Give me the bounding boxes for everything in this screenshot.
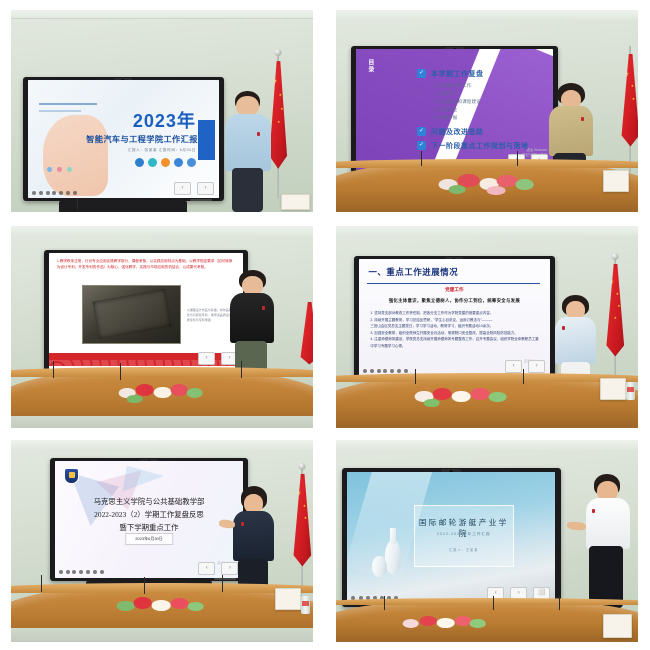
slide-nav[interactable]: ‹ › — [505, 360, 545, 373]
pen-icon[interactable] — [59, 570, 63, 574]
flower — [452, 391, 470, 402]
flower — [487, 186, 505, 195]
name-card — [275, 588, 301, 610]
agenda-heading: ✓ 本学期工作复盘 — [417, 69, 529, 79]
agenda-list: ✓ 本学期工作复盘 1. 就业和宣传工作 2. 团团学工 3. 专业建设和课程建… — [417, 69, 529, 155]
flag-cloth: ★ ★ ★ — [289, 474, 313, 567]
meeting-room-scene-6: 国际邮轮游艇产业学院 2022-2023学年工作汇报 汇报人：王某某 — [336, 440, 638, 642]
agenda-heading-text: 问题及改进思路 — [431, 127, 484, 137]
flag-star-icon: ★ — [617, 305, 620, 309]
decorative-hand-photo — [43, 115, 108, 196]
dot — [67, 167, 72, 172]
water-bottle — [626, 382, 635, 400]
flower — [420, 616, 437, 627]
agenda-item: 3. 专业建设和课程建设 — [433, 99, 529, 105]
panel-4-photo: ★ ★ ★ ★ 一、重点工作进展情况 党建工作 强化主体意识，聚焦立德树人，协作… — [336, 226, 638, 428]
table-edge — [11, 583, 313, 592]
menu-icon[interactable] — [93, 570, 97, 574]
slide-6-background: 国际邮轮游艇产业学院 2022-2023学年工作汇报 汇报人：王某某 — [347, 472, 555, 604]
flower — [489, 392, 506, 402]
torso — [230, 293, 274, 343]
more-icon[interactable] — [59, 191, 63, 195]
wall-display-3: 1.教学秩序正常，针对专业应用实践教学部分，课程考核，以实践应用特点为基础，以教… — [44, 250, 248, 374]
agenda-heading: ✓ 问题及改进思路 — [417, 127, 529, 137]
china-flag: ★ ★ ★ — [289, 466, 313, 591]
flag-star-icon: ★ — [632, 98, 635, 102]
settings-icon[interactable] — [73, 191, 77, 195]
wall-display-2: 目录 ✓ 本学期工作复盘 1. 就业和宣传工作 2. 团团学工 3. 专业建设和… — [351, 46, 558, 172]
flag-finial-icon — [274, 49, 281, 56]
prev-slide-button[interactable]: ‹ — [198, 562, 215, 575]
flag-star-icon: ★ — [616, 293, 619, 297]
flower-arrangement — [111, 380, 214, 408]
microphone-stem — [523, 369, 524, 383]
ceiling — [336, 440, 638, 450]
floor — [11, 416, 313, 428]
table-edge — [11, 367, 313, 377]
flower — [437, 618, 454, 628]
slide-canvas-6: 国际邮轮游艇产业学院 2022-2023学年工作汇报 汇报人：王某某 — [347, 472, 555, 604]
name-card-text — [614, 174, 618, 178]
slide-title: 智能汽车与工程学院工作汇报 — [86, 133, 198, 145]
display-screen[interactable]: 2023年 智能汽车与工程学院工作汇报 汇报人：张某某 汇报时间：6月30日 — [28, 80, 219, 198]
slide-icon-row — [135, 158, 196, 167]
name-card — [603, 170, 629, 192]
microphone-stem — [493, 596, 494, 610]
agenda-heading-text: 下一阶段重点工作规划与落地 — [431, 141, 529, 151]
marker-icon[interactable] — [370, 369, 374, 373]
title-rule — [367, 283, 541, 284]
presenter-1 — [222, 91, 273, 212]
slide-canvas-3: 1.教学秩序正常，针对专业应用实践教学部分，课程考核，以实践应用特点为基础，以教… — [49, 253, 243, 371]
whiteboard-toolbar[interactable] — [32, 190, 97, 196]
presenter-5 — [231, 486, 276, 597]
wall-display-4: 一、重点工作进展情况 党建工作 强化主体意识，聚焦立德树人，协作分工到位，统筹安… — [354, 256, 555, 378]
slide-4-background: 一、重点工作进展情况 党建工作 强化主体意识，聚焦立德树人，协作分工到位，统筹安… — [359, 259, 550, 376]
flag-finial-icon — [298, 463, 305, 470]
flag-star-icon: ★ — [304, 517, 307, 521]
flag-star-icon: ★ — [614, 317, 617, 321]
meeting-room-scene-5: ★ ★ ★ 马克思主义学院与公共基础教学部 — [11, 440, 313, 642]
torso — [555, 317, 596, 364]
settings-icon[interactable] — [404, 369, 408, 373]
agenda-heading-text: 本学期工作复盘 — [431, 69, 484, 79]
vase-neck — [390, 528, 396, 544]
display-screen[interactable]: 国际邮轮游艇产业学院 2022-2023学年工作汇报 汇报人：王某某 — [347, 472, 555, 604]
bullet: 4. 注重师德师风建设，学院党总支持续开展师德师风专题整改工作，召开专题会议，组… — [370, 336, 540, 349]
slide-byline: 汇报人：王某某 — [415, 547, 513, 552]
ceiling — [336, 10, 638, 20]
vase — [372, 556, 387, 577]
slide-canvas-5: 马克思主义学院与公共基础教学部 2022-2023（2）学期工作复盘反思 暨下学… — [55, 461, 243, 578]
dot — [57, 167, 62, 172]
microphone-stem — [384, 596, 385, 610]
meeting-room-scene-3: 1.教学秩序正常，针对专业应用实践教学部分，课程考核，以实践应用特点为基础，以教… — [11, 226, 313, 428]
flower — [424, 399, 440, 407]
slide-2-background: 目录 ✓ 本学期工作复盘 1. 就业和宣传工作 2. 团团学工 3. 专业建设和… — [356, 49, 553, 169]
microphone-stem — [241, 361, 242, 377]
pen-icon[interactable] — [363, 369, 367, 373]
name-badge — [592, 509, 595, 513]
flower — [170, 384, 187, 396]
name-card — [281, 194, 310, 210]
agenda-item: 1. 就业和宣传工作 — [433, 83, 529, 89]
display-screen[interactable]: 1.教学秩序正常，针对专业应用实践教学部分，课程考核，以实践应用特点为基础，以教… — [49, 253, 243, 371]
flower — [133, 597, 151, 609]
panel-2-photo: ★ ★ ★ 目录 ✓ — [336, 10, 638, 212]
slide-body-text: 1.教学秩序正常，针对专业应用实践教学部分，课程考核，以实践应用特点为基础，以教… — [57, 259, 235, 270]
display-brand-logo — [190, 199, 212, 201]
table-edge — [336, 159, 638, 167]
china-flag: ★ ★ ★ ★ — [602, 256, 628, 381]
agenda-item: 5. 科研申报 — [433, 115, 529, 121]
flag-star-icon: ★ — [271, 78, 277, 85]
display-screen[interactable]: 目录 ✓ 本学期工作复盘 1. 就业和宣传工作 2. 团团学工 3. 专业建设和… — [356, 49, 553, 169]
wall-display-5: 马克思主义学院与公共基础教学部 2022-2023（2）学期工作复盘反思 暨下学… — [50, 458, 248, 580]
ceiling — [11, 226, 313, 236]
ceiling — [11, 440, 313, 450]
wall-seam — [11, 18, 313, 19]
close-icon[interactable] — [79, 570, 83, 574]
table-edge — [336, 598, 638, 605]
torso — [233, 511, 275, 561]
flower — [187, 388, 203, 398]
flag-finial-icon — [611, 253, 618, 260]
slide-year: 2023年 — [133, 107, 196, 133]
wall-display-1: 2023年 智能汽车与工程学院工作汇报 汇报人：张某某 汇报时间：6月30日 — [23, 77, 224, 201]
school-crest-icon — [64, 468, 79, 484]
flag-star-icon: ★ — [303, 505, 306, 509]
decor-polygon — [123, 466, 164, 492]
slide-canvas-1: 2023年 智能汽车与工程学院工作汇报 汇报人：张某某 汇报时间：6月30日 — [28, 80, 219, 198]
slide-subtitle: 党建工作 — [359, 287, 550, 293]
panel-5-photo: ★ ★ ★ 马克思主义学院与公共基础教学部 — [11, 440, 313, 642]
flower — [516, 179, 534, 189]
photo-collage: ★ ★ ★ ★ 2023年 — [0, 0, 650, 650]
flag-cloth — [296, 302, 313, 365]
slide-title: 一、重点工作进展情况 — [368, 266, 458, 278]
title-line-2: 2022-2023（2）学期工作复盘反思 — [55, 509, 243, 522]
flower — [154, 387, 171, 398]
microphone-stem — [120, 363, 121, 379]
slide-lead: 强化主体意识，聚焦立德树人，协作分工到位，统筹安全与发展 — [359, 298, 550, 304]
flag-star-icon: ★ — [280, 108, 283, 112]
floor — [11, 628, 313, 642]
eraser-icon[interactable] — [46, 191, 50, 195]
microphone-stem — [222, 575, 223, 591]
flower — [470, 388, 490, 400]
title-line-1: 马克思主义学院与公共基础教学部 — [55, 496, 243, 509]
torso — [225, 114, 270, 171]
icon-circle — [148, 158, 157, 167]
check-icon: ✓ — [417, 69, 426, 78]
prev-slide-button[interactable]: ‹ — [505, 360, 522, 373]
decor-line — [39, 103, 96, 105]
slide-caption: 以课程设计作品为基础，将作品转化为可视化专利，或申请品牌设计类专利与专利申报 — [187, 308, 234, 323]
flower-arrangement — [427, 170, 548, 200]
slide-bullets: 1. 坚持党支部对教改工作责任制，把各分支工作作为学院党建的首要重点内容。 2.… — [370, 310, 540, 349]
torso — [586, 498, 630, 549]
settings-icon[interactable] — [100, 570, 104, 574]
product-photo — [92, 289, 171, 339]
flag-star-icon: ★ — [295, 490, 301, 497]
wall-display-6: 国际邮轮游艇产业学院 2022-2023学年工作汇报 汇报人：王某某 — [342, 468, 561, 607]
table-edge — [336, 373, 638, 382]
agenda-item: 2. 团团学工 — [433, 91, 529, 97]
flag-star-icon: ★ — [608, 279, 614, 286]
flag-cloth: ★ ★ ★ — [617, 54, 638, 147]
slide-canvas-4: 一、重点工作进展情况 党建工作 强化主体意识，聚焦立德树人，协作分工到位，统筹安… — [359, 259, 550, 376]
flower — [152, 600, 170, 611]
meeting-room-scene-4: ★ ★ ★ ★ 一、重点工作进展情况 党建工作 强化主体意识，聚焦立德树人，协作… — [336, 226, 638, 428]
flag-star-icon: ★ — [279, 94, 282, 98]
slide-photo — [82, 285, 181, 344]
display-screen[interactable]: 一、重点工作进展情况 党建工作 强化主体意识，聚焦立德树人，协作分工到位，统筹安… — [359, 259, 550, 376]
vase — [385, 540, 402, 574]
check-icon: ✓ — [417, 141, 426, 150]
close-icon[interactable] — [52, 191, 56, 195]
slide-1-background: 2023年 智能汽车与工程学院工作汇报 汇报人：张某某 汇报时间：6月30日 — [28, 80, 219, 198]
microphone-stem — [144, 577, 145, 593]
icon-circle — [174, 158, 183, 167]
name-card-text — [611, 382, 615, 386]
flag-cloth: ★ ★ ★ ★ — [602, 264, 628, 357]
decor-dots — [47, 167, 72, 172]
flower — [402, 619, 418, 628]
next-slide-button[interactable]: › — [528, 360, 545, 373]
prev-slide-button[interactable]: ‹ — [174, 182, 191, 195]
whiteboard-toolbar[interactable] — [59, 569, 123, 575]
flag-star-icon: ★ — [277, 121, 280, 125]
more-icon[interactable] — [390, 369, 394, 373]
check-icon: ✓ — [417, 127, 426, 136]
decor-line — [39, 110, 81, 112]
meeting-room-scene-2: ★ ★ ★ 目录 ✓ — [336, 10, 638, 212]
icon-circle — [135, 158, 144, 167]
name-card — [603, 614, 632, 638]
name-card — [600, 378, 626, 400]
icon-circle — [187, 158, 196, 167]
flower — [170, 598, 188, 609]
slide-meta: 汇报人：张某某 汇报时间：6月30日 — [128, 148, 196, 153]
name-card-text — [615, 619, 619, 623]
agenda-tag: 目录 — [366, 59, 375, 73]
flower — [448, 185, 465, 194]
flag-star-icon: ★ — [623, 71, 629, 78]
microphone-stem — [559, 596, 560, 610]
flower-arrangement — [396, 612, 493, 636]
accent-block — [198, 120, 215, 160]
more-icon[interactable] — [86, 570, 90, 574]
flag-star-icon: ★ — [631, 85, 634, 89]
name-card-text — [293, 197, 297, 201]
dot — [47, 167, 52, 172]
name-badge — [581, 117, 584, 121]
microphone-stem — [53, 361, 54, 377]
panel-1-photo: ★ ★ ★ ★ 2023年 — [11, 10, 313, 212]
ceiling — [336, 226, 638, 236]
water-bottle — [301, 596, 310, 614]
close-icon[interactable] — [383, 369, 387, 373]
flower — [188, 602, 204, 611]
flower — [470, 619, 485, 627]
slide-nav[interactable]: ‹ › — [174, 182, 214, 195]
prev-slide-button[interactable]: ‹ — [198, 352, 215, 365]
flower — [127, 395, 142, 403]
menu-icon[interactable] — [66, 191, 70, 195]
microphone-stem — [41, 575, 42, 591]
name-card-text — [286, 592, 290, 596]
slide-text-card: 国际邮轮游艇产业学院 2022-2023学年工作汇报 汇报人：王某某 — [414, 505, 514, 568]
menu-icon[interactable] — [397, 369, 401, 373]
slide-canvas-2: 目录 ✓ 本学期工作复盘 1. 就业和宣传工作 2. 团团学工 3. 专业建设和… — [356, 49, 553, 169]
eraser-icon[interactable] — [377, 369, 381, 373]
marker-icon[interactable] — [66, 570, 70, 574]
next-slide-button[interactable]: › — [197, 182, 214, 195]
china-flag: ★ ★ ★ — [617, 46, 638, 171]
slide-5-background: 马克思主义学院与公共基础教学部 2022-2023（2）学期工作复盘反思 暨下学… — [55, 461, 243, 578]
eraser-icon[interactable] — [72, 570, 76, 574]
agenda-heading: ✓ 下一阶段重点工作规划与落地 — [417, 141, 529, 151]
name-badge — [262, 306, 265, 310]
panel-3-photo: 1.教学秩序正常，针对专业应用实践教学部分，课程考核，以实践应用特点为基础，以教… — [11, 226, 313, 428]
meeting-room-scene-1: ★ ★ ★ ★ 2023年 — [11, 10, 313, 212]
pen-icon[interactable] — [32, 191, 36, 195]
agenda-item: 4. 招生就业 — [433, 107, 529, 113]
flower-arrangement — [111, 594, 214, 620]
presenter-6 — [584, 474, 632, 607]
slide-date: 2023年6月30日 — [125, 533, 173, 545]
marker-icon[interactable] — [39, 191, 43, 195]
slide-subtitle: 2022-2023学年工作汇报 — [415, 532, 513, 537]
flower — [117, 601, 134, 610]
microphone-stem — [415, 369, 416, 383]
icon-circle — [161, 158, 170, 167]
slide-title: 马克思主义学院与公共基础教学部 2022-2023（2）学期工作复盘反思 暨下学… — [55, 496, 243, 535]
display-screen[interactable]: 马克思主义学院与公共基础教学部 2022-2023（2）学期工作复盘反思 暨下学… — [55, 461, 243, 578]
torso — [549, 106, 592, 156]
panel-6-photo: 国际邮轮游艇产业学院 2022-2023学年工作汇报 汇报人：王某某 — [336, 440, 638, 642]
name-badge — [257, 132, 260, 136]
flower-arrangement — [408, 384, 517, 412]
legs — [232, 168, 264, 212]
